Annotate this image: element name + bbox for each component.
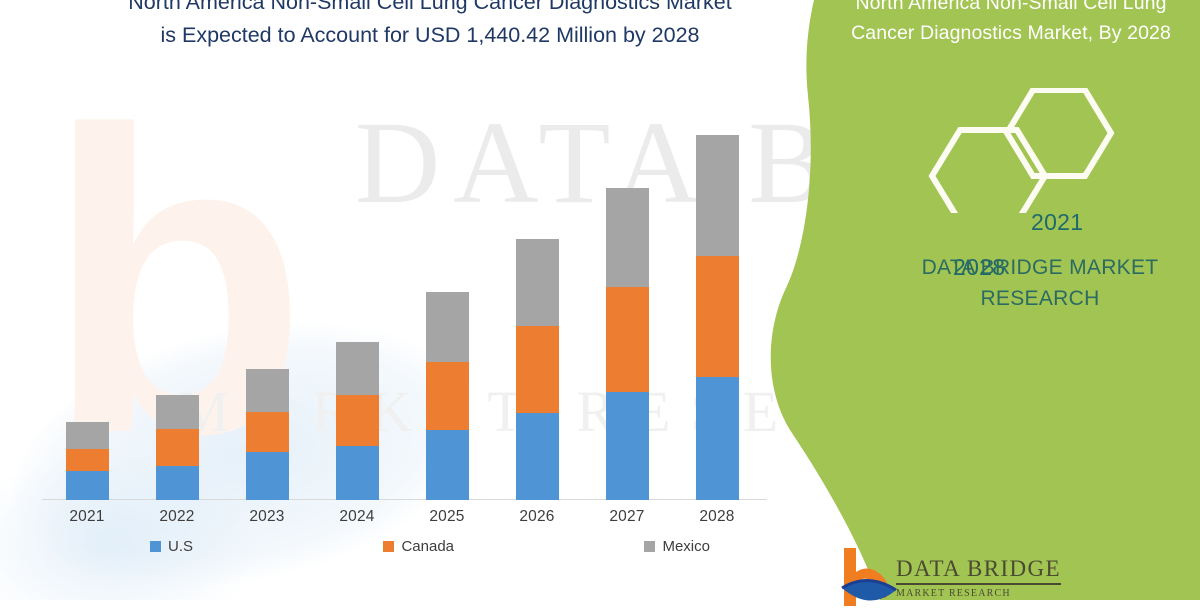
bar-column-2028 — [672, 120, 762, 500]
legend-item-mexico[interactable]: Mexico — [644, 538, 710, 555]
bar-segment-canada — [606, 287, 649, 391]
x-axis-label-2027: 2027 — [582, 508, 672, 526]
stacked-bar-chart: 20212022202320242025202620272028 U.SCana… — [0, 0, 800, 600]
panel-title-line2: Cancer Diagnostics Market, By 2028 — [828, 18, 1194, 48]
bar-segment-mexico — [336, 342, 379, 395]
bar-column-2027 — [582, 120, 672, 500]
legend-label: Canada — [401, 538, 454, 555]
x-axis-labels: 20212022202320242025202620272028 — [42, 508, 762, 526]
x-axis-label-2024: 2024 — [312, 508, 402, 526]
legend-item-us[interactable]: U.S — [150, 538, 193, 555]
stacked-bar — [66, 422, 109, 500]
panel-brand-line1: DATA BRIDGE MARKET — [890, 252, 1190, 283]
bar-segment-us — [426, 430, 469, 500]
stacked-bar — [156, 395, 199, 500]
bar-segment-mexico — [156, 395, 199, 429]
bar-segment-canada — [246, 412, 289, 452]
hexagon-2021-shape — [1007, 90, 1111, 176]
bar-segment-canada — [516, 326, 559, 413]
bar-segment-us — [516, 413, 559, 500]
chart-legend: U.SCanadaMexico — [150, 538, 710, 555]
bar-segment-canada — [426, 362, 469, 431]
stacked-bar — [606, 188, 649, 500]
stacked-bar — [516, 239, 559, 500]
x-axis-label-2023: 2023 — [222, 508, 312, 526]
chart-bars-area — [42, 120, 762, 500]
bar-segment-mexico — [66, 422, 109, 449]
panel-title-line1: North America Non-Small Cell Lung — [828, 0, 1194, 18]
bar-segment-us — [246, 452, 289, 500]
bar-segment-canada — [336, 395, 379, 446]
dbmr-logo-text: DATA BRIDGE — [896, 556, 1061, 585]
bar-column-2024 — [312, 120, 402, 500]
bar-column-2026 — [492, 120, 582, 500]
bar-column-2021 — [42, 120, 132, 500]
stacked-bar — [246, 369, 289, 500]
page-title-line1: North America Non-Small Cell Lung Cancer… — [60, 0, 800, 19]
dbmr-logo-mark — [838, 548, 898, 606]
panel-brand: DATA BRIDGE MARKET RESEARCH — [890, 252, 1190, 314]
bar-segment-mexico — [606, 188, 649, 288]
legend-swatch-icon — [150, 541, 161, 552]
bar-segment-mexico — [426, 292, 469, 362]
legend-swatch-icon — [644, 541, 655, 552]
bar-column-2023 — [222, 120, 312, 500]
page-title: North America Non-Small Cell Lung Cancer… — [60, 0, 800, 52]
bar-segment-us — [66, 471, 109, 500]
bar-segment-mexico — [516, 239, 559, 326]
x-axis-label-2026: 2026 — [492, 508, 582, 526]
bar-segment-us — [696, 377, 739, 500]
bar-segment-mexico — [696, 135, 739, 256]
page-title-line2: is Expected to Account for USD 1,440.42 … — [60, 19, 800, 52]
dbmr-logo: DATA BRIDGE MARKET RESEARCH — [838, 548, 1168, 608]
bar-column-2025 — [402, 120, 492, 500]
bar-segment-mexico — [246, 369, 289, 412]
legend-label: Mexico — [662, 538, 710, 555]
legend-label: U.S — [168, 538, 193, 555]
legend-item-canada[interactable]: Canada — [383, 538, 454, 555]
x-axis-label-2025: 2025 — [402, 508, 492, 526]
bar-segment-canada — [66, 449, 109, 472]
bar-segment-us — [606, 392, 649, 500]
bar-segment-canada — [696, 256, 739, 376]
x-axis-label-2021: 2021 — [42, 508, 132, 526]
panel-brand-line2: RESEARCH — [890, 283, 1190, 314]
stacked-bar — [336, 342, 379, 500]
stacked-bar — [696, 135, 739, 500]
x-axis-label-2022: 2022 — [132, 508, 222, 526]
bar-segment-us — [156, 466, 199, 500]
legend-swatch-icon — [383, 541, 394, 552]
hexagon-group: 2021 2028 — [925, 88, 1115, 213]
x-axis-label-2028: 2028 — [672, 508, 762, 526]
bar-column-2022 — [132, 120, 222, 500]
stacked-bar — [426, 292, 469, 500]
bar-segment-us — [336, 446, 379, 500]
dbmr-logo-tagline: MARKET RESEARCH — [896, 588, 1011, 599]
hexagon-2021-label: 2021 — [1031, 209, 1083, 236]
panel-title: North America Non-Small Cell Lung Cancer… — [828, 0, 1194, 48]
bar-segment-canada — [156, 429, 199, 465]
